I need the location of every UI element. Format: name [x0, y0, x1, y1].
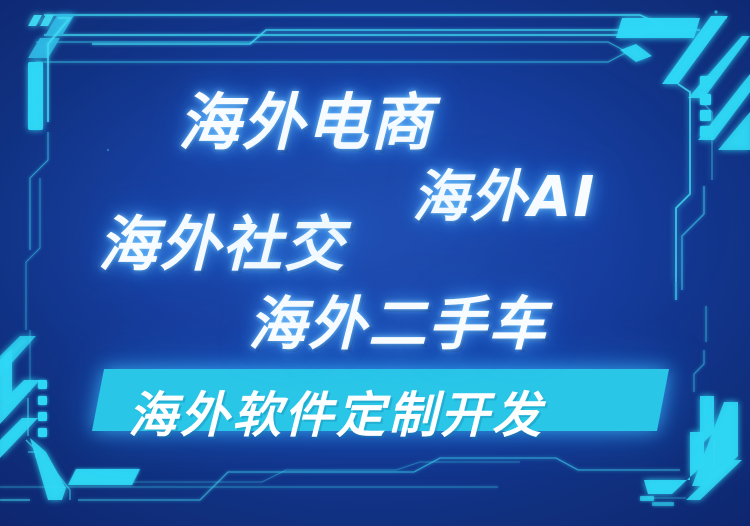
headline-text-layer: 海外电商 海外AI 海外社交 海外二手车 海外软件定制开发 [0, 0, 750, 526]
headline-ecommerce: 海外电商 [178, 72, 434, 162]
headline-used-car: 海外二手车 [248, 277, 548, 361]
promo-banner: 海外电商 海外AI 海外社交 海外二手车 海外软件定制开发 [0, 0, 750, 526]
headline-ai: 海外AI [412, 152, 596, 233]
cta-text: 海外软件定制开发 [128, 376, 544, 447]
headline-social: 海外社交 [98, 196, 346, 283]
